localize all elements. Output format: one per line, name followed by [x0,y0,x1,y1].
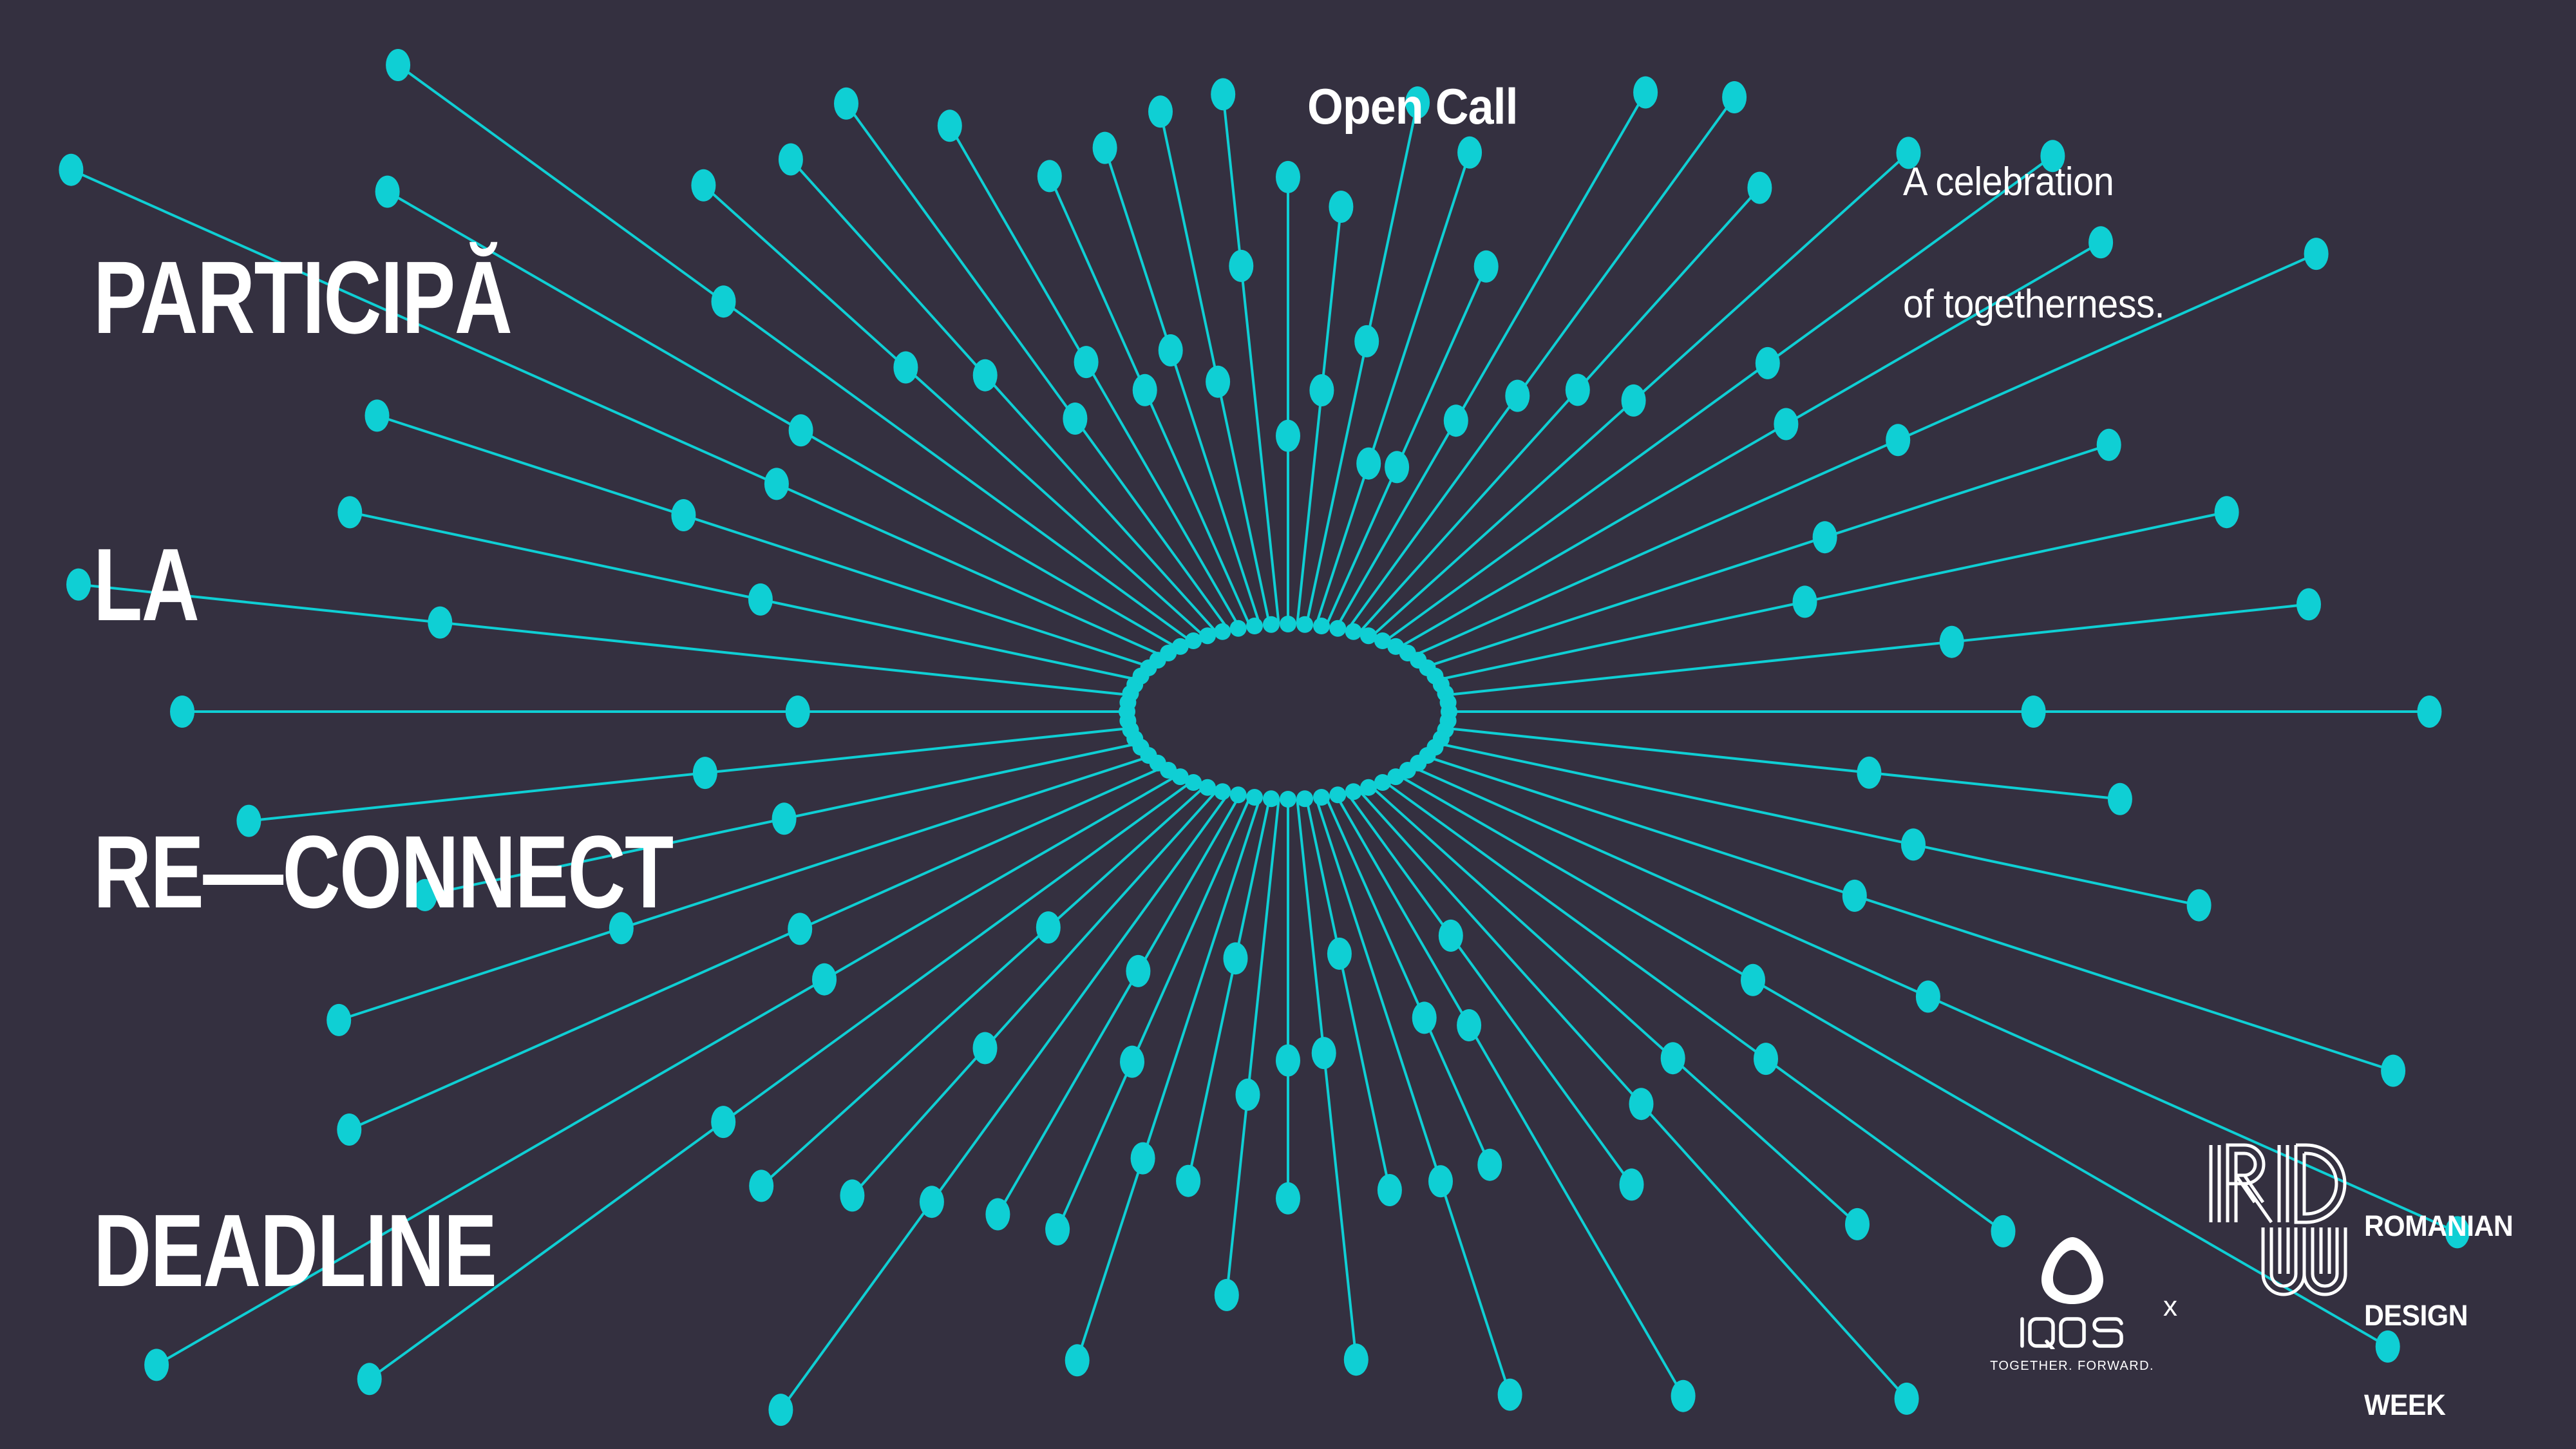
tagline-line-1: A celebration [1903,162,2164,202]
deadline-line-1: DEADLINE [93,1203,574,1299]
rdw-monogram-icon [2204,1140,2347,1301]
rdw-word-line-1: ROMANIAN [2364,1211,2513,1241]
iqos-logo: TOGETHER. FORWARD. [2003,1235,2141,1374]
poster-canvas: PARTICIPĂ LA RE—CONNECT Open Call A cele… [0,0,2576,1449]
headline-line-3: RE—CONNECT [93,824,673,920]
logo-lockup: TOGETHER. FORWARD. x [2003,1198,2531,1410]
page-title: PARTICIPĂ LA RE—CONNECT [93,58,673,1112]
headline-line-1: PARTICIPĂ [93,250,673,346]
iqos-mark-icon [2039,1235,2106,1307]
tagline-line-2: of togetherness. [1903,284,2164,325]
iqos-wordmark-icon [2018,1316,2126,1349]
rdw-word-line-2: DESIGN [2364,1301,2513,1331]
headline-line-2: LA [93,537,673,633]
tagline: A celebration of togetherness. [1903,80,2164,406]
rdw-word-line-3: WEEK [2364,1390,2513,1420]
rdw-wordmark: ROMANIAN DESIGN WEEK [2364,1151,2513,1449]
rdw-logo: ROMANIAN DESIGN WEEK [2204,1140,2521,1449]
open-call-label: Open Call [1307,77,1518,136]
iqos-tagline: TOGETHER. FORWARD. [1990,1359,2154,1374]
logo-separator-x: x [2163,1293,2177,1321]
deadline-block: DEADLINE EXTENSION: 17 MARTIE [93,1011,574,1449]
